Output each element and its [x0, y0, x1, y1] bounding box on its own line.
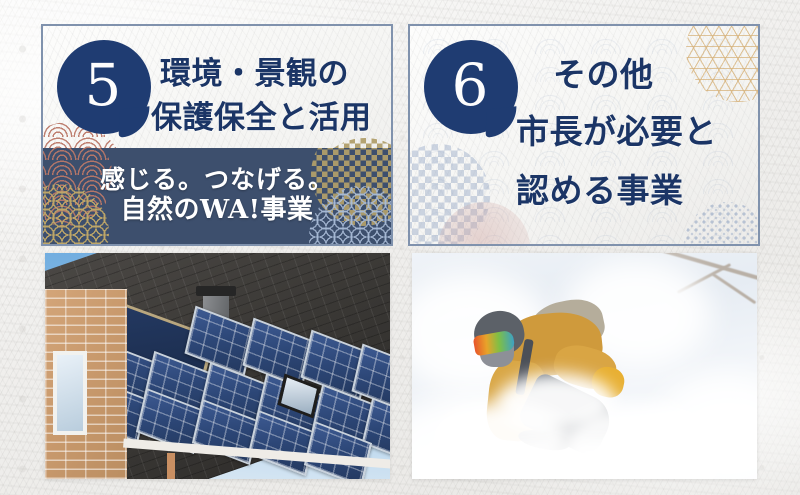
card-5-heading-line-2: 保護保全と活用 — [151, 92, 372, 137]
brick-wall — [45, 289, 127, 479]
badge-number-5: 5 — [57, 40, 151, 134]
downpipe — [167, 453, 175, 479]
card-6: 6 その他 市長が必要と 認める事業 — [408, 24, 760, 246]
banner-line-1: 感じる。つなげる。 — [100, 165, 334, 196]
card-5-heading-line-1: 環境・景観の — [160, 48, 349, 93]
card-6-heading-line-1: その他 — [553, 48, 654, 96]
badge-number-label: 6 — [424, 40, 518, 134]
card-6-heading-line-3: 認める事業 — [516, 164, 684, 212]
snowboarder-powder-photo — [412, 253, 757, 479]
badge-number-6: 6 — [424, 40, 518, 134]
card-5-banner-text: 感じる。つなげる。 自然のWA!事業 — [43, 148, 391, 244]
card-5: 5 環境・景観の 保護保全と活用 感じる。つなげる。 自然のWA!事業 — [41, 24, 393, 246]
card-6-heading-line-2: 市長が必要と — [516, 105, 717, 153]
badge-number-label: 5 — [57, 40, 151, 134]
solar-panel-roof-photo — [45, 253, 390, 479]
card-5-banner: 感じる。つなげる。 自然のWA!事業 — [43, 148, 391, 244]
banner-line-2: 自然のWA!事業 — [120, 195, 313, 227]
